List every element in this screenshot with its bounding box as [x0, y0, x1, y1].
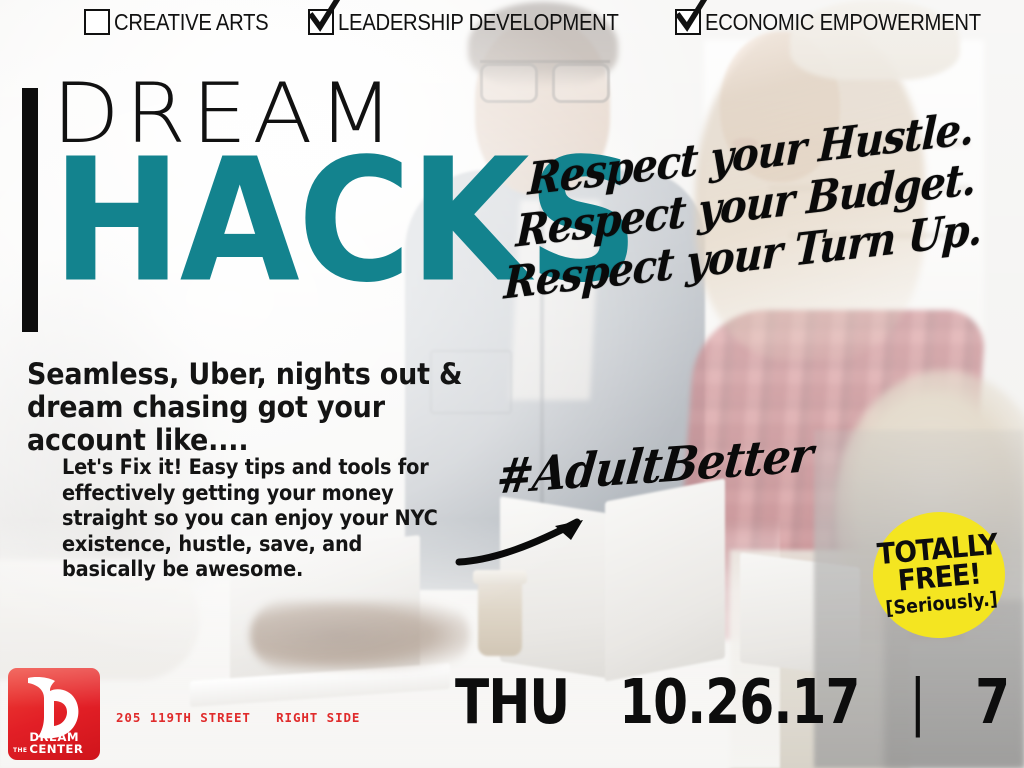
event-flyer: CREATIVE ARTS LEADERSHIP DEVELOPMENT ECO… [0, 0, 1024, 768]
event-day: THU [455, 667, 569, 738]
checkbox-label-leadership-development: LEADERSHIP DEVELOPMENT [338, 9, 619, 36]
contact-info: 205 119TH STREET RIGHT SIDE NEW YORK, NY… [116, 670, 360, 768]
event-datetime: THU 10.26.17 | 7 – 9 PM [455, 672, 1024, 734]
title-vertical-rule [22, 88, 38, 332]
program-category-bar: CREATIVE ARTS LEADERSHIP DEVELOPMENT ECO… [0, 0, 1024, 44]
dream-center-logo[interactable]: THE DREAM CENTER [8, 668, 100, 760]
checkbox-checked-icon[interactable] [675, 9, 701, 35]
logo-the-text: THE [13, 748, 27, 755]
description-text: Let's Fix it! Easy tips and tools for ef… [62, 455, 458, 583]
logo-wordmark: THE DREAM CENTER [13, 732, 95, 755]
logo-name-text: DREAM CENTER [30, 732, 96, 755]
datetime-separator: | [909, 667, 925, 738]
contact-address-line-1: 205 119TH STREET RIGHT SIDE [116, 708, 360, 727]
checkbox-label-creative-arts: CREATIVE ARTS [114, 9, 268, 36]
badge-line-2: FREE! [897, 560, 982, 594]
checkbox-checked-icon[interactable] [308, 9, 334, 35]
handwritten-slogan: Respect your Hustle. Respect your Budget… [520, 160, 984, 304]
checkbox-item-creative-arts[interactable]: CREATIVE ARTS [84, 9, 289, 36]
checkbox-item-leadership-development[interactable]: LEADERSHIP DEVELOPMENT [308, 9, 657, 36]
checkbox-label-economic-empowerment: ECONOMIC EMPOWERMENT [705, 9, 981, 36]
curved-arrow-icon [455, 500, 605, 570]
event-time: 7 – 9 [975, 667, 1024, 738]
event-date: 10.26.17 [619, 667, 859, 738]
checkbox-empty-icon[interactable] [84, 9, 110, 35]
checkbox-item-economic-empowerment[interactable]: ECONOMIC EMPOWERMENT [675, 9, 1018, 36]
headline-text: Seamless, Uber, nights out & dream chasi… [27, 358, 492, 457]
